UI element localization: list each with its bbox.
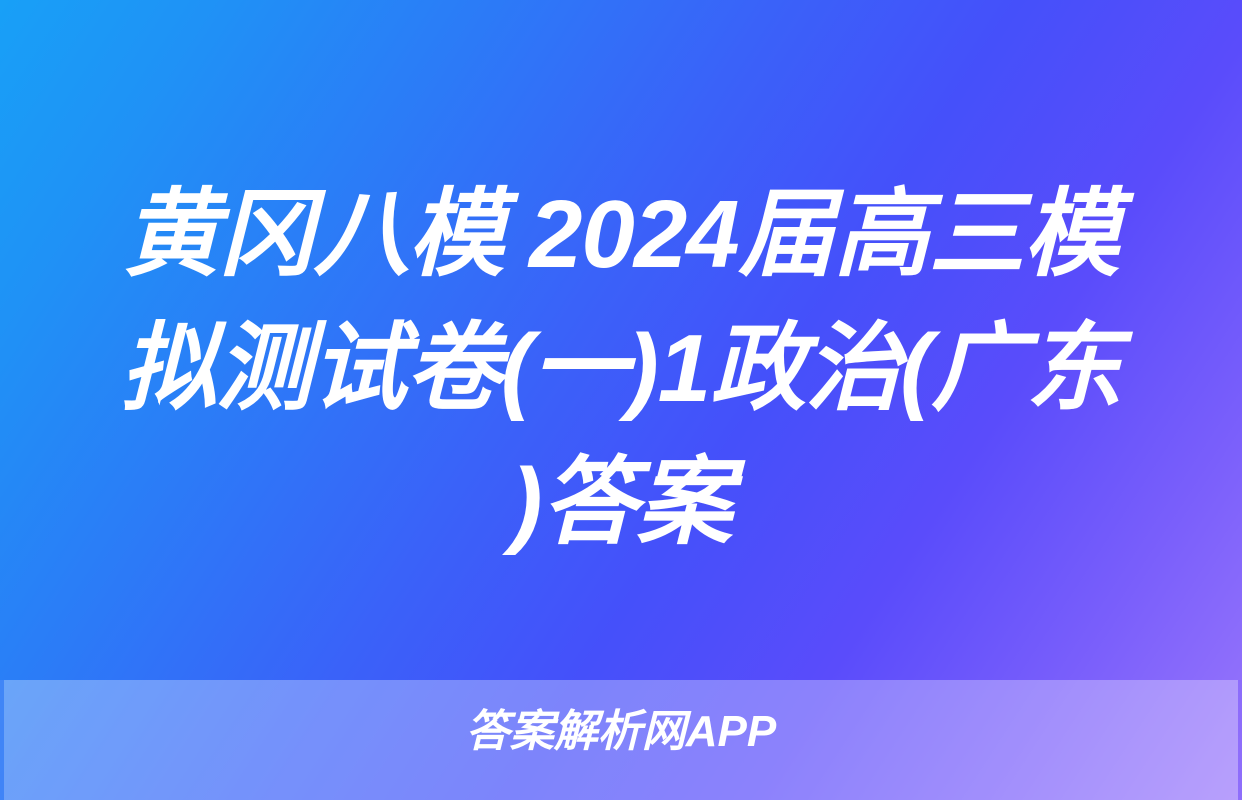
page-title: 黄冈八模 2024届高三模 拟测试卷(一)1政治(广东 )答案	[0, 168, 1242, 570]
title-line-1: 黄冈八模 2024届高三模	[38, 168, 1204, 302]
answer-card: 黄冈八模 2024届高三模 拟测试卷(一)1政治(广东 )答案 答案解析网APP	[0, 0, 1242, 800]
watermark-label: 答案解析网APP	[0, 704, 1242, 760]
title-line-3: )答案	[38, 436, 1204, 570]
title-line-2: 拟测试卷(一)1政治(广东	[38, 302, 1204, 436]
